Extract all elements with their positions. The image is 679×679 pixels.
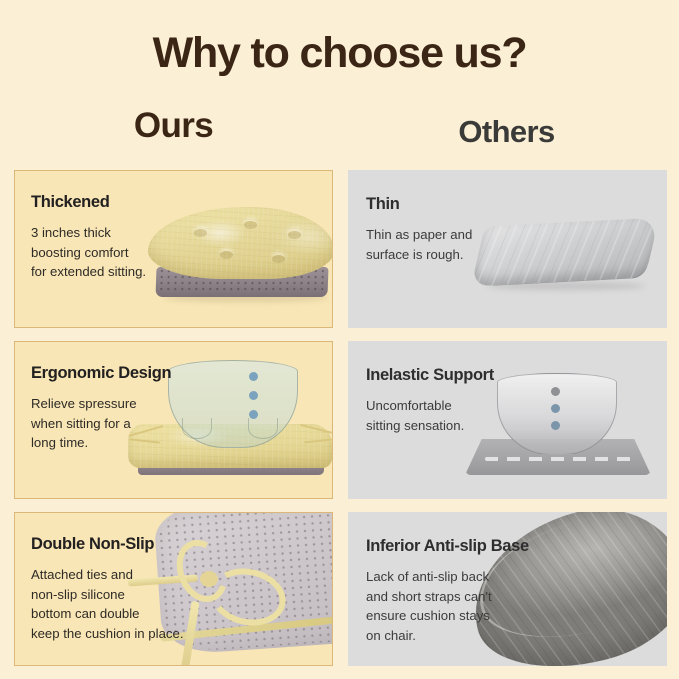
card-body: Relieve spressure when sitting for a lon… [31, 394, 171, 453]
card-text-block: Thin Thin as paper and surface is rough. [366, 195, 472, 264]
card-body: 3 inches thick boosting comfort for exte… [31, 223, 146, 282]
card-title: Thickened [31, 193, 146, 212]
thick-cushion-icon [142, 193, 333, 311]
column-header-others: Others [348, 112, 665, 152]
card-title: Double Non-Slip [31, 535, 184, 554]
card-body: Thin as paper and surface is rough. [366, 225, 472, 264]
pressure-dot-icon [249, 410, 258, 419]
card-others-inelastic-support: Inelastic Support Uncomfortable sitting … [348, 341, 667, 499]
card-others-thin: Thin Thin as paper and surface is rough. [348, 170, 667, 328]
card-title: Thin [366, 195, 472, 214]
pressure-dot-icon [551, 404, 560, 413]
card-ours-ergonomic-design: Ergonomic Design Relieve spressure when … [14, 341, 333, 499]
pressure-dot-icon [249, 391, 258, 400]
card-body: Uncomfortable sitting sensation. [366, 396, 494, 435]
comparison-infographic: Why to choose us? Ours Others Thickened … [0, 0, 679, 679]
card-title: Inferior Anti-slip Base [366, 537, 529, 556]
card-body: Attached ties and non-slip silicone bott… [31, 565, 184, 643]
card-body: Lack of anti-slip back and short straps … [366, 567, 529, 645]
card-text-block: Ergonomic Design Relieve spressure when … [31, 364, 171, 453]
card-ours-thickened: Thickened 3 inches thick boosting comfor… [14, 170, 333, 328]
card-others-inferior-anti-slip-base: Inferior Anti-slip Base Lack of anti-sli… [348, 512, 667, 666]
card-ours-double-non-slip: Double Non-Slip Attached ties and non-sl… [14, 512, 333, 666]
pressure-dot-icon [249, 372, 258, 381]
pressure-dot-icon [551, 387, 560, 396]
column-header-ours: Ours [14, 104, 333, 148]
pressure-dot-icon [551, 421, 560, 430]
card-text-block: Double Non-Slip Attached ties and non-sl… [31, 535, 184, 643]
thin-pad-icon [471, 204, 661, 306]
comparison-grid: Thickened 3 inches thick boosting comfor… [14, 170, 665, 666]
card-text-block: Thickened 3 inches thick boosting comfor… [31, 193, 146, 282]
page-title: Why to choose us? [0, 28, 679, 78]
card-text-block: Inferior Anti-slip Base Lack of anti-sli… [366, 537, 529, 645]
card-title: Inelastic Support [366, 366, 494, 385]
card-title: Ergonomic Design [31, 364, 171, 383]
card-text-block: Inelastic Support Uncomfortable sitting … [366, 366, 494, 435]
